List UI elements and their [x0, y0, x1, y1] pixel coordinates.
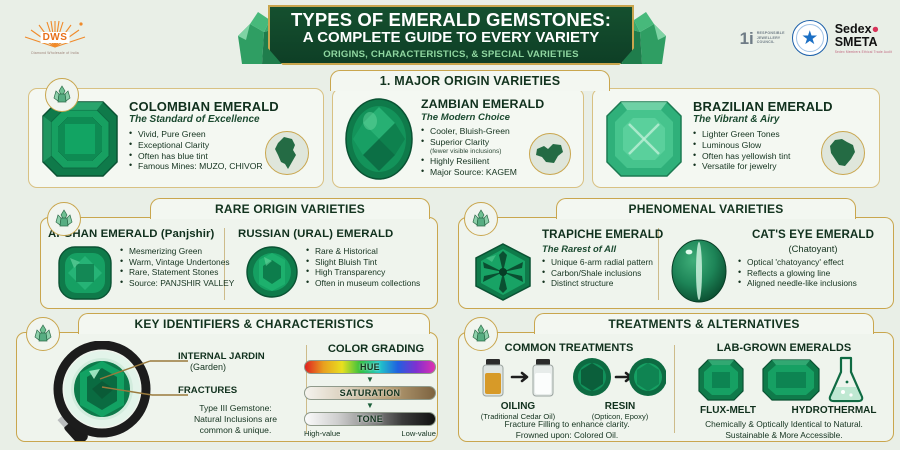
crystal-cluster-icon: [52, 85, 72, 105]
arrow-down-icon-2: ▼: [304, 402, 436, 410]
list-item: Famous Mines: MUZO, CHIVOR: [129, 161, 263, 172]
card-zambian-emerald: ZAMBIAN EMERALD The Modern Choice Cooler…: [332, 88, 584, 188]
logo-tagline: Diamond Wholesale of India: [31, 51, 79, 55]
smeta-label: SMETA: [835, 36, 892, 49]
crystal-icon-identifiers: [26, 317, 60, 351]
section-rare-origin: RARE ORIGIN VARIETIES AFGHAN EMERALD (Pa…: [0, 198, 445, 316]
banner-line2: A COMPLETE GUIDE TO EVERY VARIETY: [303, 30, 599, 47]
list-item: Rare & Historical: [306, 246, 420, 257]
common-treatments-title: COMMON TREATMENTS: [470, 342, 668, 354]
scale-right: Low-value: [401, 429, 436, 438]
list-item: Slight Bluish Tint: [306, 257, 420, 268]
rjc-text: RESPONSIBLE JEWELLERY COUNCIL: [757, 31, 785, 45]
tone-label: TONE: [357, 414, 383, 424]
section-heading-phenomenal: PHENOMENAL VARIETIES: [556, 198, 856, 219]
callout-internal-jardin-sub: (Garden): [190, 362, 226, 372]
section-heading-rare: RARE ORIGIN VARIETIES: [150, 198, 430, 219]
bullet-note: (fewer visible inclusions): [430, 148, 517, 156]
seal-ring: [796, 24, 824, 52]
resin-gems-icon: [572, 355, 666, 399]
list-item: Distinct structure: [542, 278, 653, 289]
emerald-oval-icon-zambian: [343, 97, 415, 181]
section-key-identifiers: KEY IDENTIFIERS & CHARACTERISTICS: [0, 313, 445, 448]
dws-logo: DWS Diamond Wholesale of India: [12, 14, 98, 60]
resin-label-group: RESIN (Opticon, Epoxy): [570, 401, 670, 421]
list-item: Aligned needle-like inclusions: [738, 278, 857, 289]
sedex-label: Sedex●: [835, 23, 892, 36]
section-treatments: TREATMENTS & ALTERNATIVES COMMON TREATME…: [452, 313, 900, 448]
card-title: COLOMBIAN EMERALD: [129, 99, 279, 114]
list-item: Exceptional Clarity: [129, 140, 263, 151]
card-title-catseye: CAT'S EYE EMERALD: [738, 228, 888, 241]
card-bullets-trapiche: Unique 6-arm radial pattern Carbon/Shale…: [542, 257, 653, 289]
card-bullets-russian: Rare & Historical Slight Bluish Tint Hig…: [306, 246, 420, 288]
list-item: Rare, Statement Stones: [120, 267, 234, 278]
note-line2: Frowned upon: Colored Oil.: [464, 430, 670, 441]
sunburst-icon: DWS: [21, 19, 89, 49]
emerald-cushion-icon-afghan: [56, 244, 114, 302]
card-subtitle-catseye: (Chatoyant): [738, 243, 888, 254]
oiling-label-group: OILING (Traditional Cedar Oil): [468, 401, 568, 421]
card-bullets-catseye: Optical 'chatoyancy' effect Reflects a g…: [738, 257, 857, 289]
zambia-map-badge: [529, 133, 571, 175]
section-phenomenal: PHENOMENAL VARIETIES TRAPICHE EMERA: [452, 198, 900, 316]
sedex-smeta-badge: Sedex● SMETA Sedex Members Ethical Trade…: [835, 23, 892, 54]
section-heading-identifiers: KEY IDENTIFIERS & CHARACTERISTICS: [78, 313, 430, 334]
title-banner: TYPES OF EMERALD GEMSTONES: A COMPLETE G…: [268, 5, 634, 65]
card-bullets: Vivid, Pure Green Exceptional Clarity Of…: [129, 129, 263, 172]
arrow-down-icon-1: ▼: [304, 376, 436, 384]
header: DWS Diamond Wholesale of India TYPES OF …: [0, 0, 900, 72]
crystal-cluster-icon: [33, 324, 53, 344]
section-heading-treatments: TREATMENTS & ALTERNATIVES: [534, 313, 874, 334]
emerald-round-icon-russian: [244, 244, 300, 300]
list-item: Highly Resilient: [421, 156, 517, 167]
callout-fractures: FRACTURES: [178, 385, 237, 396]
card-subtitle: The Vibrant & Airy: [693, 114, 780, 125]
list-item: Superior Clarity (fewer visible inclusio…: [421, 137, 517, 156]
oiling-label: OILING: [468, 401, 568, 412]
list-item: Reflects a glowing line: [738, 268, 857, 279]
lab-grown-note: Chemically & Optically Identical to Natu…: [678, 419, 890, 441]
responsible-jewellery-council-badge: 1i RESPONSIBLE JEWELLERY COUNCIL: [740, 30, 785, 47]
card-title-russian: RUSSIAN (URAL) EMERALD: [238, 228, 393, 240]
list-item: Mesmerizing Green: [120, 246, 234, 257]
note-line1: Type III Gemstone:: [168, 403, 303, 414]
common-treatments-note: Fracture Filling to enhance clarity. Fro…: [464, 419, 670, 441]
list-item: Often has yellowish tint: [693, 151, 790, 162]
certification-badges: 1i RESPONSIBLE JEWELLERY COUNCIL ★ Sedex…: [740, 16, 892, 60]
section-heading-major: 1. MAJOR ORIGIN VARIETIES: [330, 70, 610, 91]
rjc-mark-icon: 1i: [740, 30, 754, 47]
banner-line3: ORIGINS, CHARACTERISTICS, & SPECIAL VARI…: [323, 49, 578, 60]
saturation-bar: SATURATION: [304, 386, 436, 400]
hydrothermal-label: HYDROTHERMAL: [778, 405, 890, 416]
tone-bar: TONE: [304, 412, 436, 426]
list-item: Warm, Vintage Undertones: [120, 257, 234, 268]
card-title: ZAMBIAN EMERALD: [421, 97, 544, 111]
hue-bar: HUE: [304, 360, 436, 374]
emerald-octagon-icon-colombian: [39, 98, 121, 180]
brazil-map-badge: [821, 131, 865, 175]
list-item: Luminous Glow: [693, 140, 790, 151]
flux-melt-emerald-icon: [696, 357, 746, 403]
zambia-map-icon: [534, 141, 566, 167]
card-subtitle: The Standard of Excellence: [129, 114, 260, 125]
flask-icon: [826, 355, 866, 403]
note-line2: Sustainable & More Accessible.: [678, 430, 890, 441]
crystal-icon-major: [45, 78, 79, 112]
type-iii-note: Type III Gemstone: Natural Inclusions ar…: [168, 403, 303, 436]
emerald-octagon-icon-brazilian: [603, 98, 685, 180]
list-item: Optical 'chatoyancy' effect: [738, 257, 857, 268]
card-brazilian-emerald: BRAZILIAN EMERALD The Vibrant & Airy Lig…: [592, 88, 880, 188]
list-item: Lighter Green Tones: [693, 129, 790, 140]
note-line2: Natural Inclusions are: [168, 414, 303, 425]
crystal-cluster-icon: [54, 209, 74, 229]
list-item: High Transparency: [306, 267, 420, 278]
hydrothermal-emerald-icon: [760, 357, 822, 403]
colombia-map-badge: [265, 131, 309, 175]
crystal-cluster-icon: [471, 324, 491, 344]
card-title-trapiche: TRAPICHE EMERALD: [542, 228, 663, 241]
logo-text: DWS: [41, 32, 70, 43]
note-line1: Chemically & Optically Identical to Natu…: [678, 419, 890, 430]
card-title: BRAZILIAN EMERALD: [693, 99, 833, 114]
list-item: Source: PANJSHIR VALLEY: [120, 278, 234, 289]
card-subtitle: The Modern Choice: [421, 112, 510, 123]
section-major-origin: 1. MAJOR ORIGIN VARIETIES COLOMBIAN EMER…: [0, 70, 900, 195]
list-item: Vivid, Pure Green: [129, 129, 263, 140]
certification-seal-badge: ★: [792, 20, 828, 56]
list-item: Often has blue tint: [129, 151, 263, 162]
list-item: Cooler, Bluish-Green: [421, 126, 517, 137]
crystal-icon-treatments: [464, 317, 498, 351]
colombia-map-icon: [272, 136, 302, 170]
list-item: Often in museum collections: [306, 278, 420, 289]
infographic-page: DWS Diamond Wholesale of India TYPES OF …: [0, 0, 900, 450]
banner-line1: TYPES OF EMERALD GEMSTONES:: [291, 10, 611, 29]
scale-left: High-value: [304, 429, 340, 438]
card-bullets-afghan: Mesmerizing Green Warm, Vintage Underton…: [120, 246, 234, 288]
crystal-icon-phenomenal: [464, 202, 498, 236]
card-subtitle-trapiche: The Rarest of All: [542, 243, 616, 254]
list-item: Unique 6-arm radial pattern: [542, 257, 653, 268]
trapiche-emerald-icon: [472, 242, 534, 302]
oiling-bottles-icon: [476, 357, 566, 399]
hue-label: HUE: [360, 362, 380, 372]
lab-grown-title: LAB-GROWN EMERALDS: [680, 342, 888, 354]
treatments-divider: [674, 345, 675, 433]
color-grading-title: COLOR GRADING: [316, 343, 436, 355]
list-item: Carbon/Shale inclusions: [542, 268, 653, 279]
smeta-sub: Sedex Members Ethical Trade Audit: [835, 50, 892, 54]
resin-label: RESIN: [570, 401, 670, 412]
saturation-label: SATURATION: [340, 388, 401, 398]
grading-scale-labels: High-value Low-value: [304, 429, 436, 438]
list-item: Versatile for jewelry: [693, 161, 790, 172]
card-bullets: Cooler, Bluish-Green Superior Clarity (f…: [421, 126, 517, 178]
crystal-cluster-icon: [471, 209, 491, 229]
brazil-map-icon: [827, 137, 859, 169]
note-line3: common & unique.: [168, 425, 303, 436]
cats-eye-emerald-icon: [668, 238, 730, 304]
crystal-icon-rare: [47, 202, 81, 236]
callout-internal-jardin: INTERNAL JARDIN: [178, 351, 265, 362]
list-item: Major Source: KAGEM: [421, 167, 517, 178]
note-line1: Fracture Filling to enhance clarity.: [464, 419, 670, 430]
card-bullets: Lighter Green Tones Luminous Glow Often …: [693, 129, 790, 172]
flux-melt-label: FLUX-MELT: [680, 405, 776, 416]
